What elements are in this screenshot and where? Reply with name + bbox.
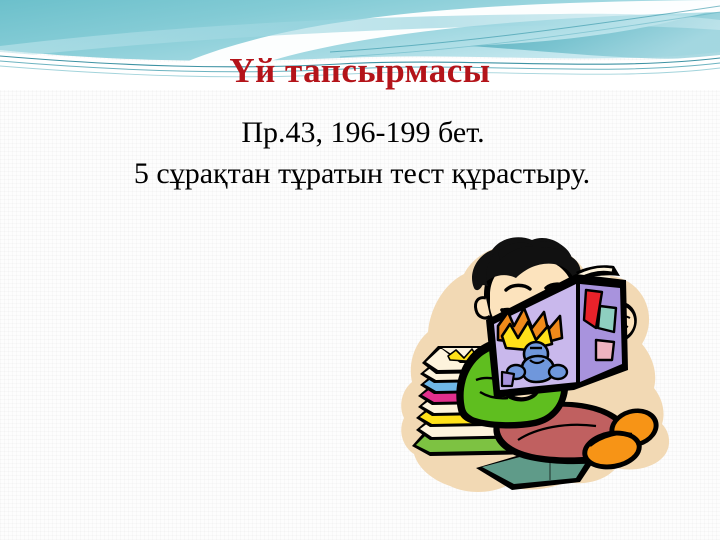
- page-title: Үй тапсырмасы: [0, 52, 720, 91]
- body-text-block: Пр.43, 196-199 бет. 5 сұрақтан тұратын т…: [0, 112, 720, 195]
- assignment-task-line: 5 сұрақтан тұратын тест құрастыру.: [0, 153, 720, 194]
- page-title-text: Үй тапсырмасы: [229, 51, 490, 90]
- slide-canvas: Үй тапсырмасы Пр.43, 196-199 бет. 5 сұра…: [0, 0, 720, 540]
- assignment-reference-line: Пр.43, 196-199 бет.: [0, 112, 720, 153]
- boy-reading-book-icon: [390, 232, 690, 522]
